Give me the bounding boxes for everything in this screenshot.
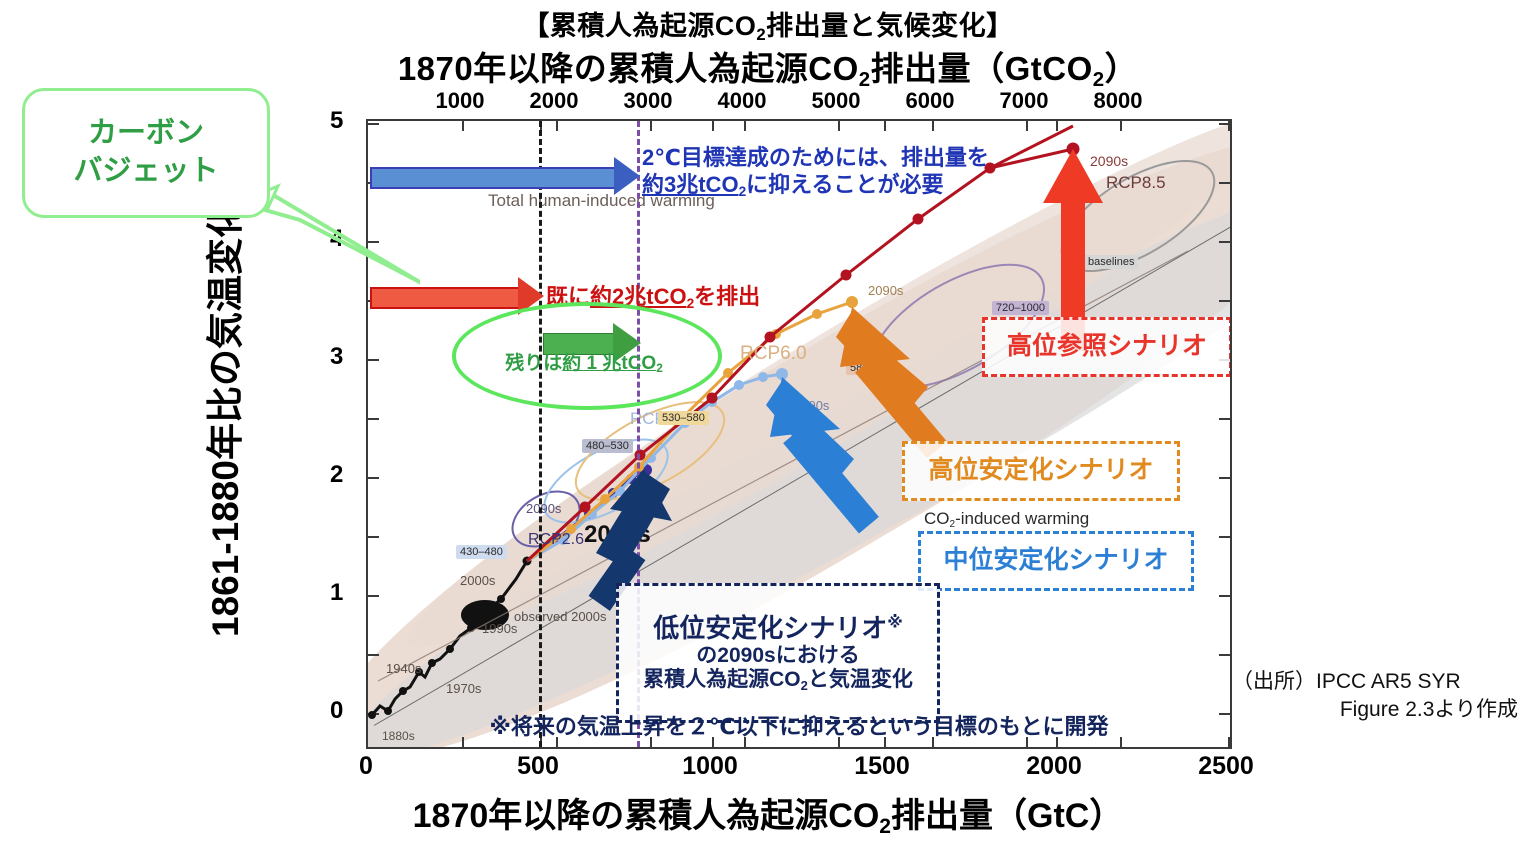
remaining-budget-text: 残りは約 1 兆tCO2 (462, 348, 706, 375)
label-rcp26: RCP2.6 (528, 531, 584, 549)
top-tick-7: 7000 (1000, 88, 1049, 114)
x-axis-title: 1870年以降の累積人為起源CO2排出量（GtC） (0, 788, 1536, 837)
chip-480-530: 480–530 (582, 439, 633, 453)
scenario-box-high-reference: 高位参照シナリオ (982, 317, 1232, 377)
x-tick-0: 0 (359, 752, 373, 781)
label-2010s: 2010s (584, 521, 651, 549)
label-2090s-rcp26: 2090s (526, 501, 561, 516)
top-tick-2: 2000 (530, 88, 579, 114)
top-tick-4: 4000 (718, 88, 767, 114)
carbon-budget-callout: カーボン バジェット (22, 88, 270, 218)
label-2000s: 2000s (460, 573, 495, 588)
chip-530-580: 530–580 (658, 411, 709, 425)
label-2090s-rcp85: 2090s (1090, 153, 1128, 169)
label-1990s: 1990s (482, 621, 517, 636)
top-tick-3: 3000 (624, 88, 673, 114)
y-tick-0: 0 (330, 697, 343, 725)
x-tick-2500: 2500 (1198, 752, 1254, 781)
label-rcp60: RCP6.0 (740, 343, 807, 365)
label-rcp85: RCP8.5 (1106, 173, 1166, 193)
label-co2-induced-warming: CO2-induced warming (924, 509, 1089, 529)
x-tick-1500: 1500 (854, 752, 910, 781)
y-tick-4: 4 (330, 225, 343, 253)
top-axis-tick-labels: 1000 2000 3000 4000 5000 6000 7000 8000 (366, 88, 1228, 114)
y-tick-2: 2 (330, 461, 343, 489)
chart-top-axis-title: 1870年以降の累積人為起源CO2排出量（GtCO2） (0, 42, 1536, 90)
label-observed-2000s: observed 2000s (514, 609, 607, 624)
callout-line-2: バジェット (73, 153, 218, 191)
source-attribution: （出所）IPCC AR5 SYR Figure 2.3より作成 (1232, 668, 1532, 725)
x-tick-500: 500 (517, 752, 559, 781)
chip-430-480: 430–480 (456, 545, 507, 559)
y-tick-5: 5 (330, 107, 343, 135)
y-tick-1: 1 (330, 579, 343, 607)
source-line-2: Figure 2.3より作成 (1232, 696, 1532, 724)
chip-baselines: baselines (1084, 255, 1138, 269)
top-tick-6: 6000 (906, 88, 955, 114)
x-tick-1000: 1000 (682, 752, 738, 781)
x-tick-2000: 2000 (1026, 752, 1082, 781)
label-2090s-rcp45: 2090s (794, 398, 829, 413)
top-tick-1: 1000 (436, 88, 485, 114)
blue-annotation-text: 2℃目標達成のためには、排出量を 約3兆tCO2に抑えることが必要 (642, 145, 989, 199)
scenario-box-high-stabilization: 高位安定化シナリオ (902, 441, 1180, 501)
chart-plot-area: 1880s 1940s 1970s 1990s 2000s observed 2… (366, 119, 1232, 749)
callout-line-1: カーボン (88, 115, 204, 153)
top-tick-5: 5000 (812, 88, 861, 114)
y-axis-title: 1861-1880年比の気温変化 (195, 139, 249, 699)
label-2090s-rcp60: 2090s (868, 283, 903, 298)
marker-emitted-to-date (539, 121, 542, 747)
scenario-box-low-stabilization: 低位安定化シナリオ※ の2090sにおける 累積人為起源CO2と気温変化 (616, 583, 940, 723)
chip-720-1000: 720–1000 (992, 301, 1049, 315)
source-line-1: （出所）IPCC AR5 SYR (1232, 670, 1461, 693)
top-tick-8: 8000 (1094, 88, 1143, 114)
y-axis-tick-labels: 5 4 3 2 1 0 (330, 119, 364, 745)
chip-580-720: 580–720 (846, 361, 897, 375)
bottom-axis-tick-labels: 0 500 1000 1500 2000 2500 (366, 752, 1228, 782)
page-title: 【累積人為起源CO2排出量と気候変化】 (0, 4, 1536, 43)
label-1970s: 1970s (446, 681, 481, 696)
chart-footnote: ※将来の気温上昇を２℃以下に抑えるという目標のもとに開発 (368, 709, 1230, 741)
y-tick-3: 3 (330, 343, 343, 371)
scenario-box-mid-stabilization: 中位安定化シナリオ (918, 531, 1194, 591)
label-1940s: 1940s (386, 661, 421, 676)
